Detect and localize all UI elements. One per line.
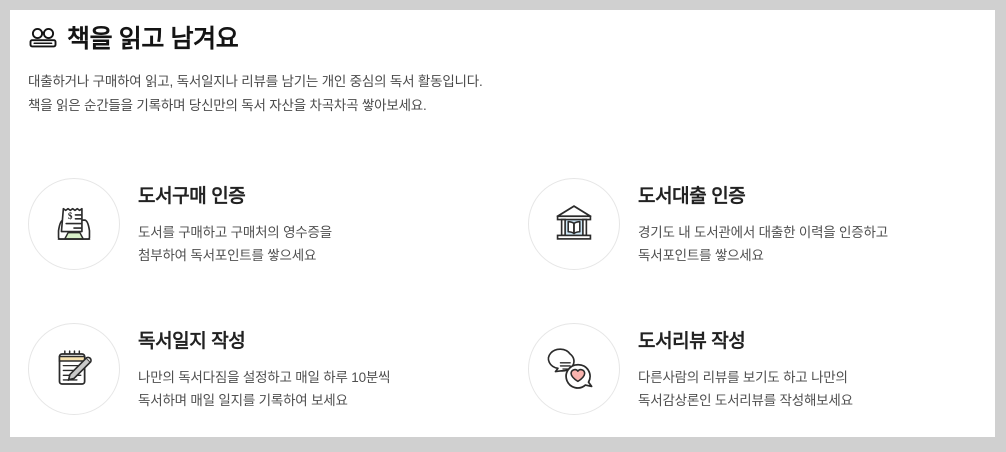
feature-card-reading-journal[interactable]: 독서일지 작성 나만의 독서다짐을 설정하고 매일 하루 10분씩 독서하며 매…	[28, 307, 528, 452]
page-description-line-1: 대출하거나 구매하여 읽고, 독서일지나 리뷰를 남기는 개인 중심의 독서 활…	[28, 70, 968, 94]
svg-text:$: $	[68, 211, 73, 221]
card-description-line-1: 도서를 구매하고 구매처의 영수증을	[138, 221, 332, 244]
card-body: 도서대출 인증 경기도 내 도서관에서 대출한 이력을 인증하고 독서포인트를 …	[638, 178, 888, 268]
feature-card-book-purchase[interactable]: $ 도서구매 인증 도서를 구매하고 구매처의 영수증을 첨부하여 독서포인트를…	[28, 162, 528, 307]
feature-card-grid: $ 도서구매 인증 도서를 구매하고 구매처의 영수증을 첨부하여 독서포인트를…	[28, 162, 978, 452]
card-description: 경기도 내 도서관에서 대출한 이력을 인증하고 독서포인트를 쌓으세요	[638, 221, 888, 268]
feature-card-library-loan[interactable]: 도서대출 인증 경기도 내 도서관에서 대출한 이력을 인증하고 독서포인트를 …	[528, 162, 978, 307]
card-description: 다른사람의 리뷰를 보기도 하고 나만의 독서감상론인 도서리뷰를 작성해보세요	[638, 366, 853, 413]
page-description-line-2: 책을 읽은 순간들을 기록하며 당신만의 독서 자산을 차곡차곡 쌓아보세요.	[28, 94, 968, 118]
speech-bubbles-heart-icon	[528, 323, 620, 415]
page-header: 책을 읽고 남겨요 대출하거나 구매하여 읽고, 독서일지나 리뷰를 남기는 개…	[28, 22, 968, 118]
content-panel: 책을 읽고 남겨요 대출하거나 구매하여 읽고, 독서일지나 리뷰를 남기는 개…	[10, 10, 995, 437]
card-body: 도서구매 인증 도서를 구매하고 구매처의 영수증을 첨부하여 독서포인트를 쌓…	[138, 178, 332, 268]
card-title: 도서대출 인증	[638, 187, 888, 206]
card-title: 도서구매 인증	[138, 187, 332, 206]
glasses-on-book-icon	[28, 26, 58, 52]
card-body: 도서리뷰 작성 다른사람의 리뷰를 보기도 하고 나만의 독서감상론인 도서리뷰…	[638, 323, 853, 413]
notepad-pencil-icon	[28, 323, 120, 415]
card-description-line-2: 독서하며 매일 일지를 기록하여 보세요	[138, 389, 390, 412]
card-description: 나만의 독서다짐을 설정하고 매일 하루 10분씩 독서하며 매일 일지를 기록…	[138, 366, 390, 413]
card-description-line-2: 첨부하여 독서포인트를 쌓으세요	[138, 244, 332, 267]
card-description-line-1: 경기도 내 도서관에서 대출한 이력을 인증하고	[638, 221, 888, 244]
page-title-row: 책을 읽고 남겨요	[28, 22, 968, 56]
receipt-printer-icon: $	[28, 178, 120, 270]
feature-card-book-review[interactable]: 도서리뷰 작성 다른사람의 리뷰를 보기도 하고 나만의 독서감상론인 도서리뷰…	[528, 307, 978, 452]
card-description-line-2: 독서감상론인 도서리뷰를 작성해보세요	[638, 389, 853, 412]
card-description: 도서를 구매하고 구매처의 영수증을 첨부하여 독서포인트를 쌓으세요	[138, 221, 332, 268]
card-body: 독서일지 작성 나만의 독서다짐을 설정하고 매일 하루 10분씩 독서하며 매…	[138, 323, 390, 413]
page-title: 책을 읽고 남겨요	[67, 27, 238, 52]
card-title: 독서일지 작성	[138, 332, 390, 351]
card-title: 도서리뷰 작성	[638, 332, 853, 351]
card-description-line-1: 나만의 독서다짐을 설정하고 매일 하루 10분씩	[138, 366, 390, 389]
card-description-line-2: 독서포인트를 쌓으세요	[638, 244, 888, 267]
card-description-line-1: 다른사람의 리뷰를 보기도 하고 나만의	[638, 366, 853, 389]
library-building-icon	[528, 178, 620, 270]
page-description: 대출하거나 구매하여 읽고, 독서일지나 리뷰를 남기는 개인 중심의 독서 활…	[28, 70, 968, 118]
